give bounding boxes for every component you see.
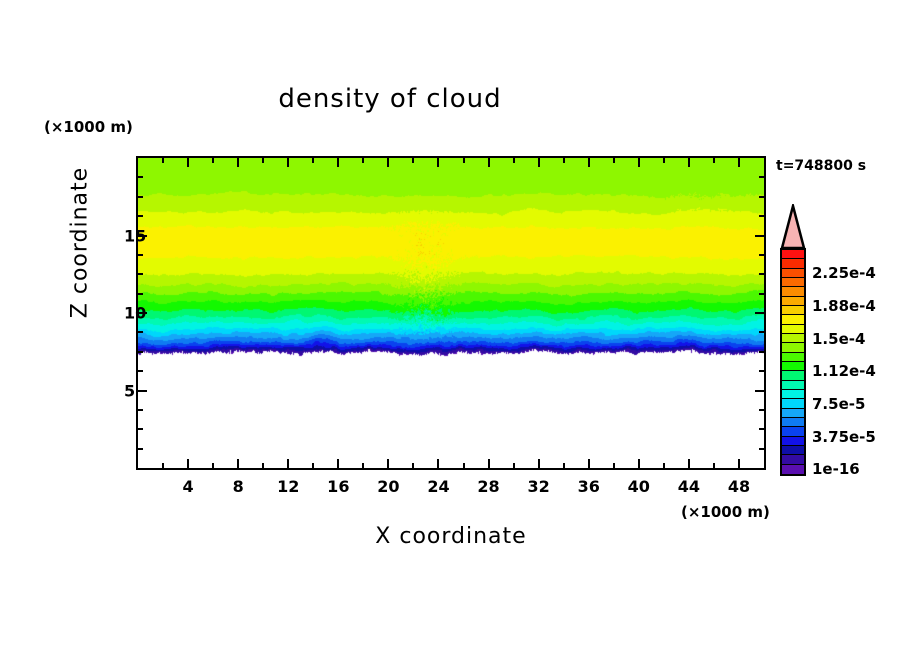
x-axis-tick [713,158,715,163]
x-axis-tick [688,459,690,468]
y-tick-label: 10 [124,304,146,323]
x-tick-label: 12 [277,477,299,496]
x-axis-tick [412,463,414,468]
colorbar-segment [782,278,804,287]
y-axis-tick [759,293,764,295]
colorbar-segment [782,381,804,390]
time-annotation: t=748800 s [776,158,866,174]
y-axis-tick [759,215,764,217]
x-axis-tick [387,459,389,468]
colorbar-segment [782,306,804,315]
x-axis-tick [588,158,590,167]
colorbar-segment [782,371,804,380]
x-tick-label: 48 [728,477,750,496]
colorbar-segment [782,455,804,464]
y-axis-tick [759,351,764,353]
x-axis-tick [262,158,264,163]
x-tick-label: 16 [327,477,349,496]
y-axis-tick [138,176,143,178]
y-axis-tick [759,409,764,411]
x-tick-label: 20 [377,477,399,496]
x-axis-tick [237,459,239,468]
y-axis-tick [138,196,143,198]
y-axis-tick [138,293,143,295]
x-axis-tick [337,459,339,468]
y-axis-tick [138,331,143,333]
y-axis-tick [755,235,764,237]
x-tick-label: 8 [233,477,244,496]
y-axis-units-label: (×1000 m) [44,118,133,136]
x-axis-tick [212,463,214,468]
x-axis-tick [187,158,189,167]
colorbar-tick-label: 3.75e-5 [812,428,876,446]
contour-field [138,158,764,468]
x-axis-tick [437,459,439,468]
plot-area [136,156,766,470]
x-tick-label: 24 [427,477,449,496]
y-axis-tick [759,196,764,198]
x-tick-label: 4 [183,477,194,496]
x-axis-tick [638,158,640,167]
colorbar-tick-label: 1.5e-4 [812,330,865,348]
colorbar-tick-label: 2.25e-4 [812,264,876,282]
colorbar-segment [782,297,804,306]
x-axis-tick [312,463,314,468]
y-axis-tick [138,370,143,372]
colorbar-segment [782,427,804,436]
y-axis-tick [138,215,143,217]
x-axis-tick [212,158,214,163]
y-axis-tick [755,390,764,392]
x-axis-tick [287,158,289,167]
x-axis-units-label: (×1000 m) [681,503,770,521]
colorbar-segment [782,343,804,352]
x-axis-tick [337,158,339,167]
x-axis-tick [563,158,565,163]
x-axis-tick [538,459,540,468]
x-axis-tick [237,158,239,167]
x-axis-tick [437,158,439,167]
x-axis-tick [362,463,364,468]
colorbar [780,248,806,476]
x-axis-tick [513,463,515,468]
x-axis-tick [688,158,690,167]
x-axis-tick [738,158,740,167]
x-axis-tick [312,158,314,163]
x-axis-tick [463,158,465,163]
x-tick-label: 36 [578,477,600,496]
colorbar-segment [782,446,804,455]
x-axis-tick [488,158,490,167]
y-axis-tick [138,409,143,411]
colorbar-segment [782,353,804,362]
x-axis-tick [463,463,465,468]
x-axis-tick [162,158,164,163]
colorbar-segment [782,399,804,408]
figure-root: density of cloud (×1000 m) t=748800 s (×… [0,0,904,654]
y-axis-label: Z coordinate [68,143,93,343]
colorbar-segment [782,362,804,371]
y-axis-tick [759,428,764,430]
colorbar-overflow-arrow [780,204,806,250]
x-axis-tick [713,463,715,468]
y-axis-tick [138,390,147,392]
x-axis-tick [362,158,364,163]
colorbar-segment [782,259,804,268]
x-axis-tick [663,463,665,468]
colorbar-segment [782,334,804,343]
x-axis-tick [287,459,289,468]
y-axis-tick [759,176,764,178]
colorbar-segment [782,315,804,324]
y-axis-tick [759,331,764,333]
y-axis-tick [759,448,764,450]
y-axis-tick [755,312,764,314]
page-title: density of cloud [0,84,780,114]
x-axis-tick [563,463,565,468]
x-axis-tick [588,459,590,468]
y-tick-label: 5 [124,381,135,400]
x-axis-tick [638,459,640,468]
y-axis-tick [138,428,143,430]
x-axis-tick [738,459,740,468]
x-axis-tick [488,459,490,468]
colorbar-segment [782,250,804,259]
x-axis-tick [187,459,189,468]
colorbar-segment [782,418,804,427]
x-axis-tick [613,463,615,468]
y-axis-tick [759,254,764,256]
x-tick-label: 40 [628,477,650,496]
x-tick-label: 44 [678,477,700,496]
x-axis-tick [538,158,540,167]
colorbar-segment [782,390,804,399]
x-axis-tick [262,463,264,468]
colorbar-segment [782,465,804,474]
colorbar-segment [782,409,804,418]
x-axis-tick [513,158,515,163]
y-axis-tick [138,273,143,275]
x-axis-label: X coordinate [136,524,766,549]
x-axis-tick [412,158,414,163]
x-tick-label: 32 [527,477,549,496]
y-axis-tick [759,273,764,275]
x-axis-tick [162,463,164,468]
colorbar-tick-label: 1.88e-4 [812,297,876,315]
y-axis-tick [759,370,764,372]
y-axis-tick [138,448,143,450]
colorbar-tick-label: 7.5e-5 [812,395,865,413]
y-tick-label: 15 [124,226,146,245]
x-axis-tick [613,158,615,163]
colorbar-segment [782,325,804,334]
colorbar-segment [782,269,804,278]
x-tick-label: 28 [477,477,499,496]
y-axis-tick [138,351,143,353]
colorbar-tick-label: 1.12e-4 [812,362,876,380]
colorbar-segment [782,287,804,296]
y-axis-tick [138,254,143,256]
colorbar-tick-label: 1e-16 [812,460,860,478]
x-axis-tick [663,158,665,163]
colorbar-segment [782,437,804,446]
x-axis-tick [387,158,389,167]
